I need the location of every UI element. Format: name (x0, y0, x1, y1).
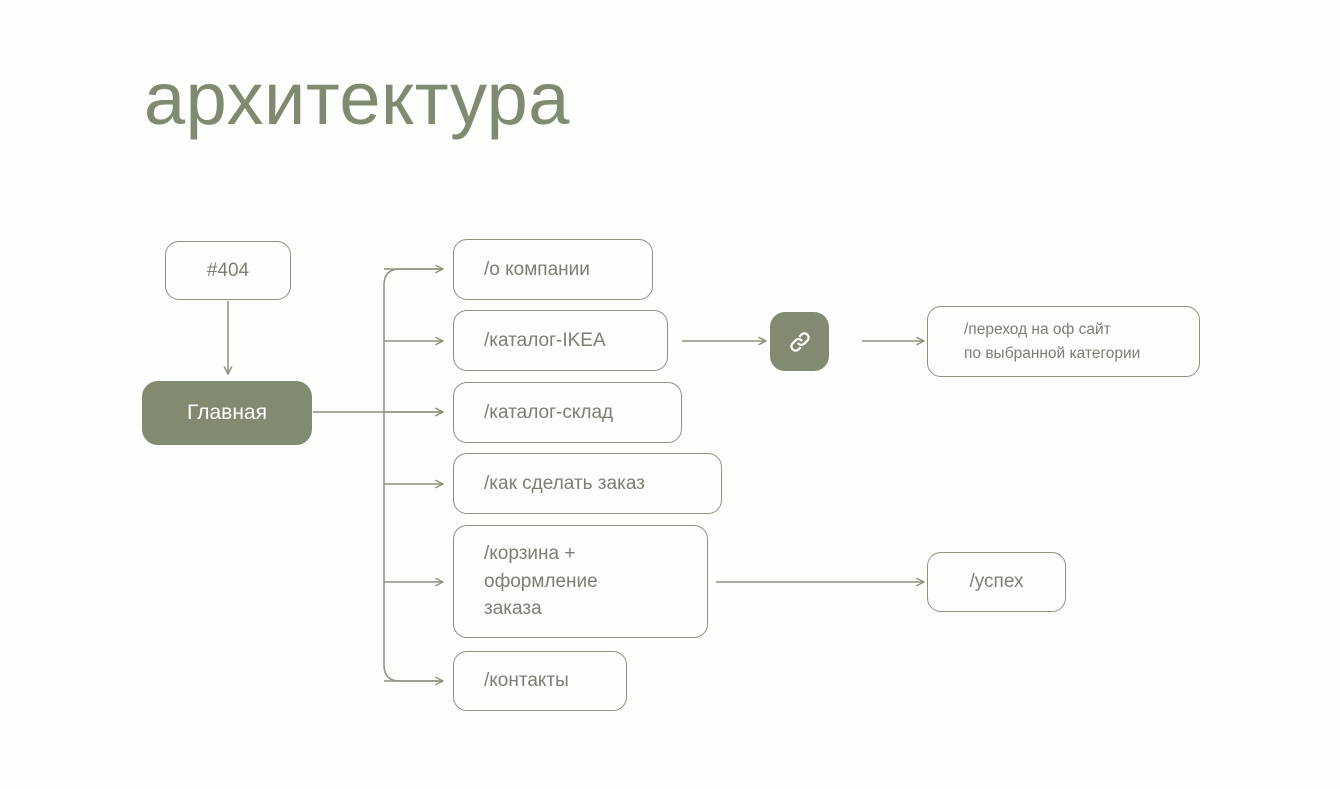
node-external-link[interactable] (770, 312, 829, 371)
node-404-label: #404 (207, 257, 249, 285)
node-cart[interactable]: /корзина + оформление заказа (453, 525, 708, 638)
node-contacts-label: /контакты (484, 667, 569, 695)
node-official-site-label: /переход на оф сайт по выбранной категор… (964, 318, 1140, 365)
node-home-label: Главная (187, 398, 267, 428)
node-catalog-stock-label: /каталог-склад (484, 399, 613, 427)
node-catalog-ikea-label: /каталог-IKEA (484, 327, 606, 355)
node-official-site[interactable]: /переход на оф сайт по выбранной категор… (927, 306, 1200, 377)
architecture-diagram-slide: архитектура (0, 0, 1340, 789)
node-catalog-ikea[interactable]: /каталог-IKEA (453, 310, 668, 371)
node-404[interactable]: #404 (165, 241, 291, 300)
node-catalog-stock[interactable]: /каталог-склад (453, 382, 682, 443)
edge-spine (384, 269, 443, 681)
node-success[interactable]: /успех (927, 552, 1066, 612)
node-cart-label: /корзина + оформление заказа (484, 540, 598, 623)
link-icon (786, 328, 814, 356)
page-title: архитектура (144, 62, 570, 136)
node-home[interactable]: Главная (142, 381, 312, 445)
node-how-to-order[interactable]: /как сделать заказ (453, 453, 722, 514)
node-success-label: /успех (969, 568, 1023, 596)
node-about[interactable]: /о компании (453, 239, 653, 300)
node-how-to-order-label: /как сделать заказ (484, 470, 645, 498)
node-contacts[interactable]: /контакты (453, 651, 627, 711)
node-about-label: /о компании (484, 256, 590, 284)
